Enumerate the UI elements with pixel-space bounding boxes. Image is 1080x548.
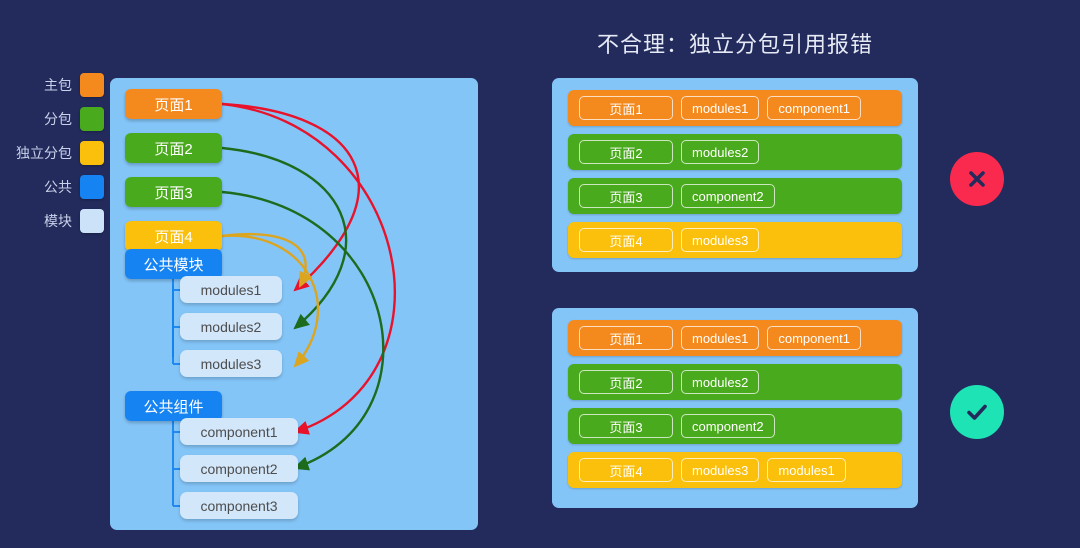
table-row: 页面4 modules3 modules1 <box>568 452 902 488</box>
legend-label: 独立分包 <box>16 146 72 160</box>
chip-module[interactable]: modules3 <box>681 228 759 252</box>
independent-package-swatch <box>80 141 104 165</box>
chip-component[interactable]: component2 <box>681 414 775 438</box>
chip-page[interactable]: 页面4 <box>579 228 673 252</box>
node-component2[interactable]: component2 <box>180 455 298 482</box>
table-row: 页面1 modules1 component1 <box>568 90 902 126</box>
legend-item-common: 公共 <box>8 174 104 200</box>
chip-module-duplicate[interactable]: modules1 <box>767 458 845 482</box>
status-badge-error <box>950 152 1004 206</box>
chip-page[interactable]: 页面1 <box>579 326 673 350</box>
arrow-page1-to-component1 <box>222 104 395 432</box>
node-page2[interactable]: 页面2 <box>125 133 222 163</box>
node-page1[interactable]: 页面1 <box>125 89 222 119</box>
legend-label: 分包 <box>44 112 72 126</box>
chip-component[interactable]: component2 <box>681 184 775 208</box>
node-common-modules[interactable]: 公共模块 <box>125 249 222 279</box>
legend-label: 主包 <box>44 78 72 92</box>
legend-item-main-package: 主包 <box>8 72 104 98</box>
module-swatch <box>80 209 104 233</box>
check-icon <box>962 397 992 427</box>
legend-label: 公共 <box>44 180 72 194</box>
main-package-swatch <box>80 73 104 97</box>
legend-label: 模块 <box>44 214 72 228</box>
node-modules2[interactable]: modules2 <box>180 313 282 340</box>
legend-item-independent-package: 独立分包 <box>8 140 104 166</box>
common-swatch <box>80 175 104 199</box>
chip-page[interactable]: 页面2 <box>579 370 673 394</box>
node-common-components[interactable]: 公共组件 <box>125 391 222 421</box>
node-page4[interactable]: 页面4 <box>125 221 222 251</box>
status-badge-ok <box>950 385 1004 439</box>
table-row: 页面4 modules3 <box>568 222 902 258</box>
chip-module[interactable]: modules3 <box>681 458 759 482</box>
table-row: 页面2 modules2 <box>568 134 902 170</box>
cross-icon <box>963 165 991 193</box>
dependency-diagram-panel: 页面1 页面2 页面3 页面4 公共模块 modules1 modules2 m… <box>110 78 478 530</box>
table-row: 页面3 component2 <box>568 178 902 214</box>
legend-item-module: 模块 <box>8 208 104 234</box>
chip-page[interactable]: 页面1 <box>579 96 673 120</box>
chip-page[interactable]: 页面3 <box>579 184 673 208</box>
chip-component[interactable]: component1 <box>767 96 861 120</box>
sub-package-swatch <box>80 107 104 131</box>
chip-module[interactable]: modules2 <box>681 140 759 164</box>
page-title: 不合理：独立分包引用报错 <box>552 27 918 59</box>
node-modules3[interactable]: modules3 <box>180 350 282 377</box>
table-row: 页面3 component2 <box>568 408 902 444</box>
table-row: 页面2 modules2 <box>568 364 902 400</box>
node-modules1[interactable]: modules1 <box>180 276 282 303</box>
chip-module[interactable]: modules1 <box>681 96 759 120</box>
valid-bundles-panel: 页面1 modules1 component1 页面2 modules2 页面3… <box>552 308 918 508</box>
node-component3[interactable]: component3 <box>180 492 298 519</box>
legend: 主包 分包 独立分包 公共 模块 <box>8 72 104 234</box>
table-row: 页面1 modules1 component1 <box>568 320 902 356</box>
chip-page[interactable]: 页面2 <box>579 140 673 164</box>
chip-page[interactable]: 页面4 <box>579 458 673 482</box>
legend-item-sub-package: 分包 <box>8 106 104 132</box>
node-page3[interactable]: 页面3 <box>125 177 222 207</box>
invalid-bundles-panel: 页面1 modules1 component1 页面2 modules2 页面3… <box>552 78 918 272</box>
node-component1[interactable]: component1 <box>180 418 298 445</box>
arrow-page1-to-modules1 <box>222 104 359 290</box>
chip-component[interactable]: component1 <box>767 326 861 350</box>
chip-module[interactable]: modules2 <box>681 370 759 394</box>
chip-page[interactable]: 页面3 <box>579 414 673 438</box>
chip-module[interactable]: modules1 <box>681 326 759 350</box>
